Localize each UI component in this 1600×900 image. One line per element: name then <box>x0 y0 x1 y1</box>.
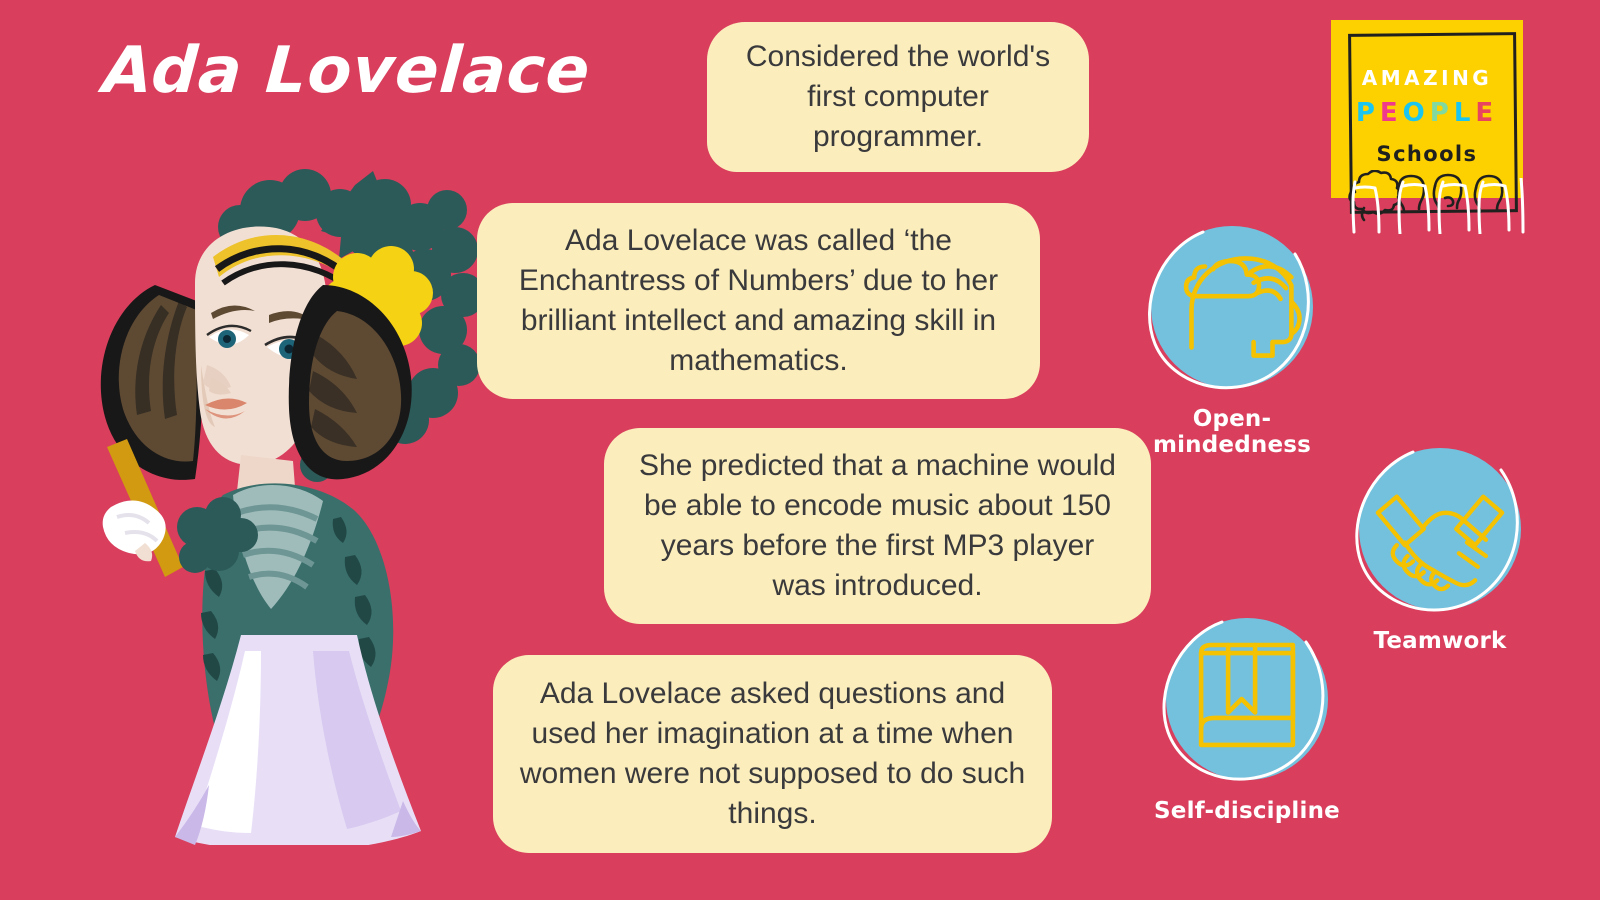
logo-line-amazing: AMAZING <box>1331 66 1523 90</box>
book-bookmark-icon <box>1166 618 1328 780</box>
logo-line-people: PEOPLE <box>1331 98 1523 128</box>
logo-line-schools: Schools <box>1331 142 1523 166</box>
fact-bubble-2: Ada Lovelace was called ‘the Enchantress… <box>477 203 1040 399</box>
value-label: Open-mindedness <box>1127 407 1337 459</box>
value-badge <box>1351 440 1529 618</box>
value-label: Teamwork <box>1335 629 1545 655</box>
logo-letter-p: P <box>1356 98 1380 128</box>
value-badge <box>1158 610 1336 788</box>
infographic-poster: Ada Lovelace Considered the world's firs… <box>0 0 1600 900</box>
fact-bubble-1: Considered the world's first computer pr… <box>707 22 1089 172</box>
logo-letter-e: E <box>1380 98 1403 128</box>
value-badge <box>1143 218 1321 396</box>
fact-bubble-4: Ada Lovelace asked questions and used he… <box>493 655 1052 853</box>
page-title: Ada Lovelace <box>101 38 576 105</box>
head-cloud-rainbow-icon <box>1151 226 1313 388</box>
value-open-mindedness[interactable]: Open-mindedness <box>1127 218 1337 459</box>
people-bodies-outline-icon <box>1331 178 1541 234</box>
value-self-discipline[interactable]: Self-discipline <box>1142 610 1352 825</box>
handshake-icon <box>1359 448 1521 610</box>
fact-text: Ada Lovelace was called ‘the Enchantress… <box>503 221 1014 381</box>
fact-bubble-3: She predicted that a machine would be ab… <box>604 428 1151 624</box>
logo-letter-e: E <box>1475 98 1498 128</box>
logo-letter-o: O <box>1403 98 1430 128</box>
value-label: Self-discipline <box>1142 799 1352 825</box>
value-teamwork[interactable]: Teamwork <box>1335 440 1545 655</box>
fact-text: Considered the world's first computer pr… <box>733 37 1063 157</box>
ada-lovelace-illustration <box>55 165 505 845</box>
logo-letter-p: P <box>1430 98 1454 128</box>
logo-letter-l: L <box>1454 98 1476 128</box>
fact-text: She predicted that a machine would be ab… <box>630 446 1125 606</box>
fact-text: Ada Lovelace asked questions and used he… <box>519 674 1026 834</box>
